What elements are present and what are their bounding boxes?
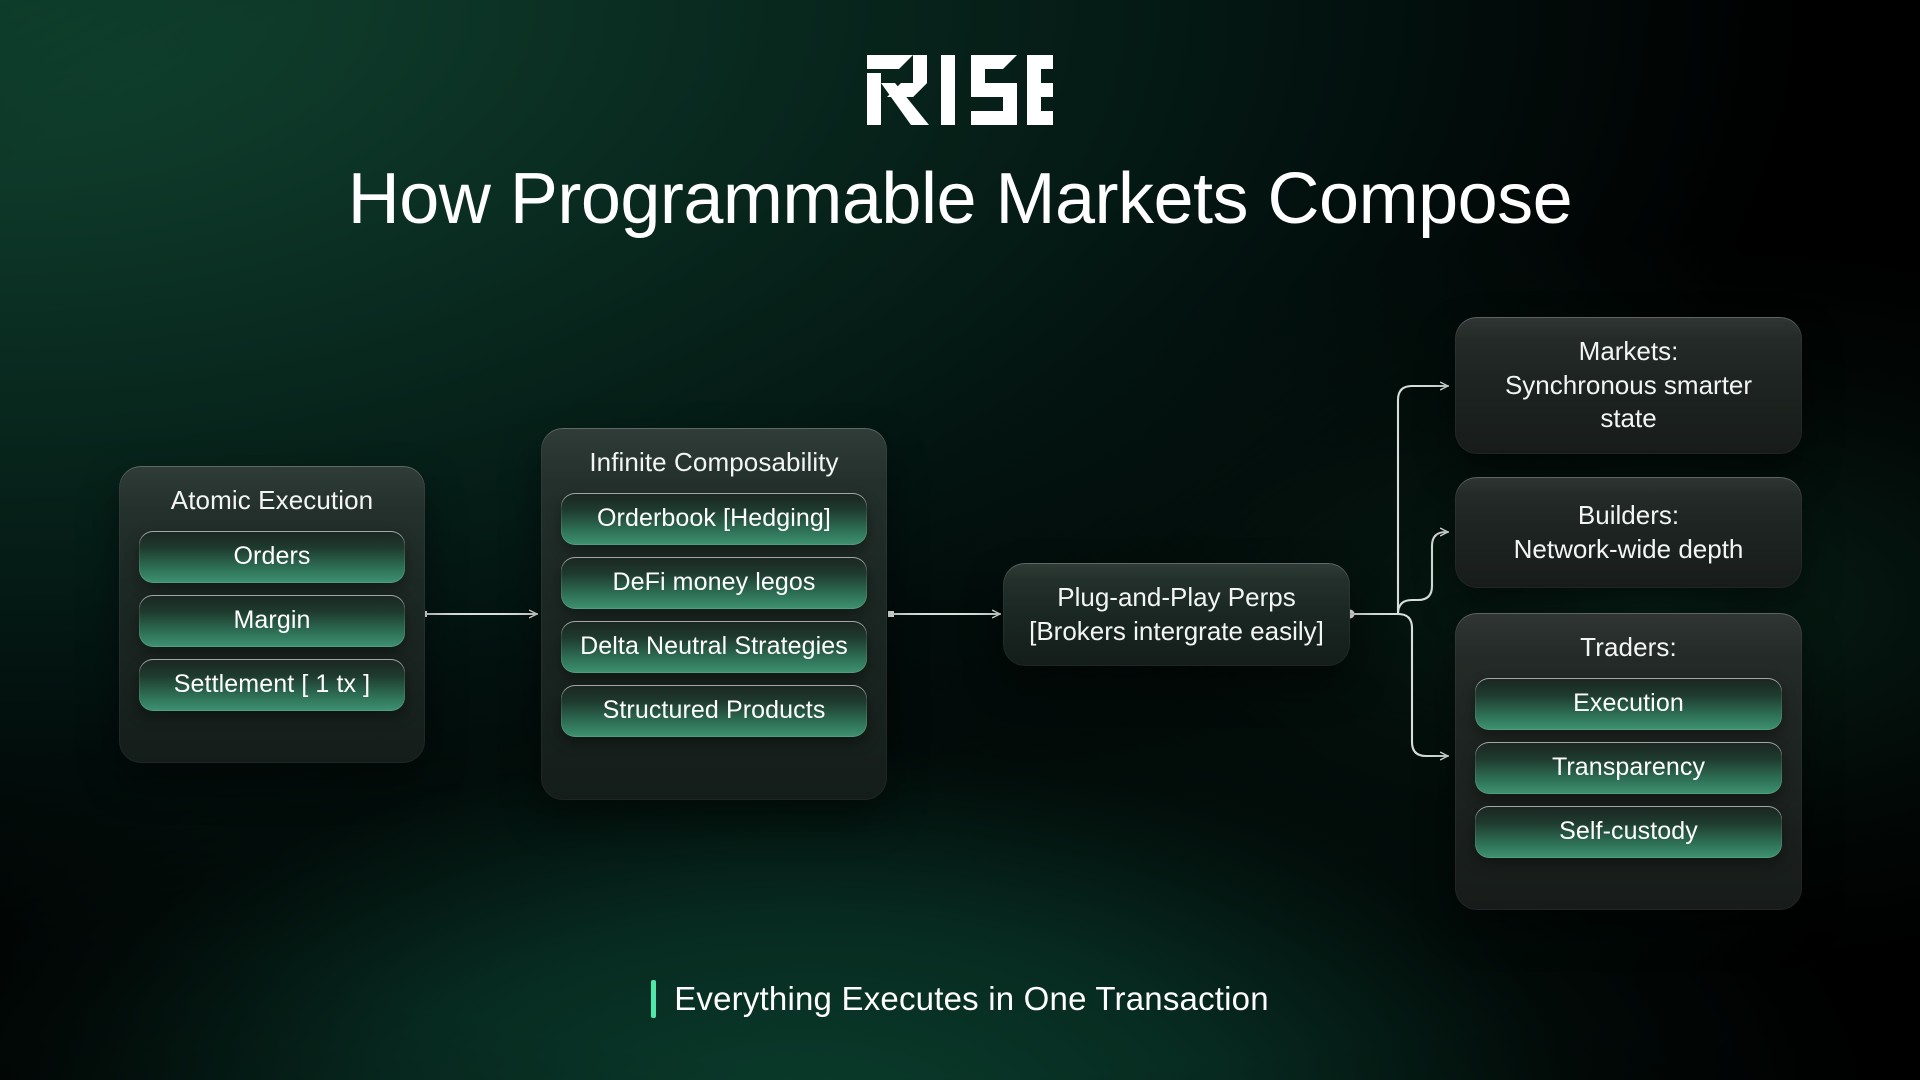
- perps-line-1: Plug-and-Play Perps: [1057, 581, 1295, 615]
- pill-orderbook-hedging[interactable]: Orderbook [Hedging]: [561, 493, 867, 545]
- pill-list-infinite-composability: Orderbook [Hedging] DeFi money legos Del…: [561, 493, 867, 737]
- connector-branch-markets: [1398, 386, 1448, 614]
- node-plug-and-play-perps[interactable]: Plug-and-Play Perps [Brokers intergrate …: [1003, 563, 1350, 666]
- perps-line-2: [Brokers intergrate easily]: [1029, 615, 1324, 649]
- pill-margin[interactable]: Margin: [139, 595, 405, 647]
- markets-line-3: state: [1600, 402, 1656, 436]
- pill-execution[interactable]: Execution: [1475, 678, 1782, 730]
- card-title-atomic-execution: Atomic Execution: [171, 484, 373, 517]
- card-traders[interactable]: Traders: Execution Transparency Self-cus…: [1455, 613, 1802, 910]
- markets-line-1: Markets:: [1579, 335, 1679, 369]
- connector-origin-dot-mid: [888, 611, 894, 617]
- card-title-traders: Traders:: [1580, 631, 1677, 664]
- pill-list-atomic-execution: Orders Margin Settlement [ 1 tx ]: [139, 531, 405, 711]
- builders-line-2: Network-wide depth: [1514, 533, 1744, 567]
- pill-transparency[interactable]: Transparency: [1475, 742, 1782, 794]
- pill-settlement[interactable]: Settlement [ 1 tx ]: [139, 659, 405, 711]
- rise-wordmark-logo: [867, 55, 1053, 125]
- footer-caption-text: Everything Executes in One Transaction: [674, 980, 1269, 1018]
- diagram-canvas: How Programmable Markets Compose: [0, 0, 1920, 1080]
- markets-line-2: Synchronous smarter: [1505, 369, 1752, 403]
- pill-defi-money-legos[interactable]: DeFi money legos: [561, 557, 867, 609]
- node-markets[interactable]: Markets: Synchronous smarter state: [1455, 317, 1802, 454]
- pill-structured-products[interactable]: Structured Products: [561, 685, 867, 737]
- builders-line-1: Builders:: [1578, 499, 1679, 533]
- card-infinite-composability[interactable]: Infinite Composability Orderbook [Hedgin…: [541, 428, 887, 800]
- accent-bar: [651, 980, 656, 1018]
- card-title-infinite-composability: Infinite Composability: [589, 446, 838, 479]
- pill-delta-neutral-strategies[interactable]: Delta Neutral Strategies: [561, 621, 867, 673]
- pill-list-traders: Execution Transparency Self-custody: [1475, 678, 1782, 858]
- connector-branch-traders: [1398, 614, 1448, 756]
- card-atomic-execution[interactable]: Atomic Execution Orders Margin Settlemen…: [119, 466, 425, 763]
- node-builders[interactable]: Builders: Network-wide depth: [1455, 477, 1802, 588]
- brand-logo: [0, 55, 1920, 125]
- pill-orders[interactable]: Orders: [139, 531, 405, 583]
- connector-branch-builders: [1398, 532, 1448, 614]
- page-title: How Programmable Markets Compose: [0, 162, 1920, 238]
- pill-self-custody[interactable]: Self-custody: [1475, 806, 1782, 858]
- footer-caption: Everything Executes in One Transaction: [0, 980, 1920, 1018]
